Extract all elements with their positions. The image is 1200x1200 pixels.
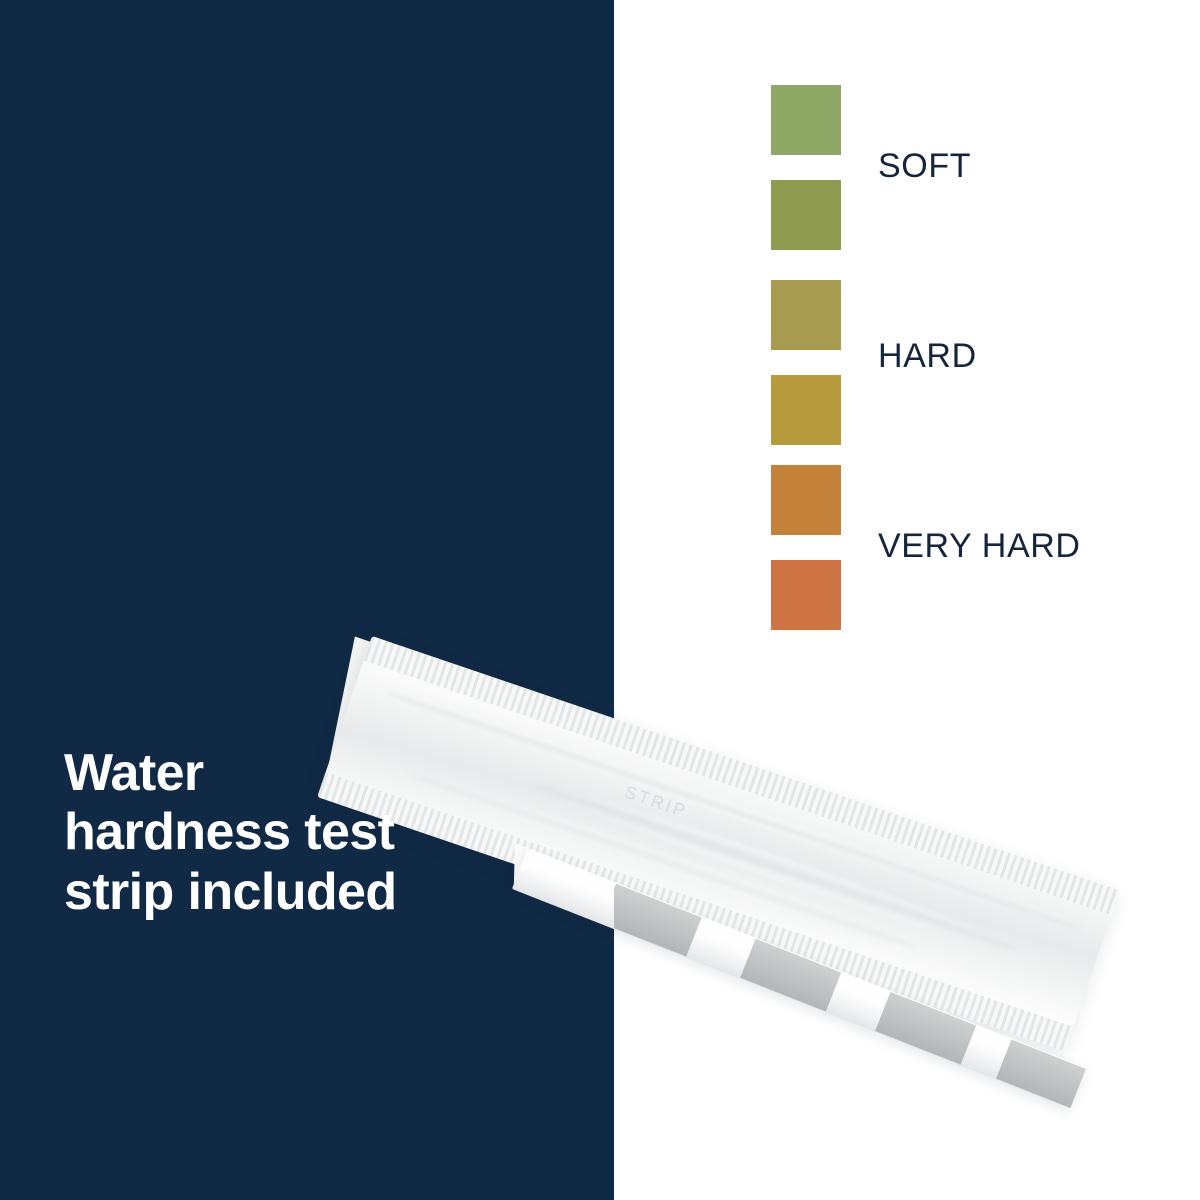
packet-crease — [534, 776, 614, 960]
colour-swatch-2 — [771, 180, 841, 250]
product-photo-over-navy — [0, 0, 614, 1200]
legend-panel: SOFT HARD VERY HARD — [614, 0, 1200, 1200]
navy-overlap-clip — [0, 0, 614, 1200]
legend-label-soft: SOFT — [878, 147, 971, 186]
colour-swatch-3 — [771, 280, 841, 350]
legend-label-hard: HARD — [878, 337, 977, 376]
colour-swatch-5 — [771, 465, 841, 535]
legend-label-very-hard: VERY HARD — [878, 527, 1081, 566]
colour-swatch-4 — [771, 375, 841, 445]
product-feature-image: SOFT HARD VERY HARD STRIP — [0, 0, 1200, 1200]
colour-swatch-1 — [771, 85, 841, 155]
colour-swatch-6 — [771, 560, 841, 630]
page-title: Water hardness test strip included — [64, 744, 534, 922]
